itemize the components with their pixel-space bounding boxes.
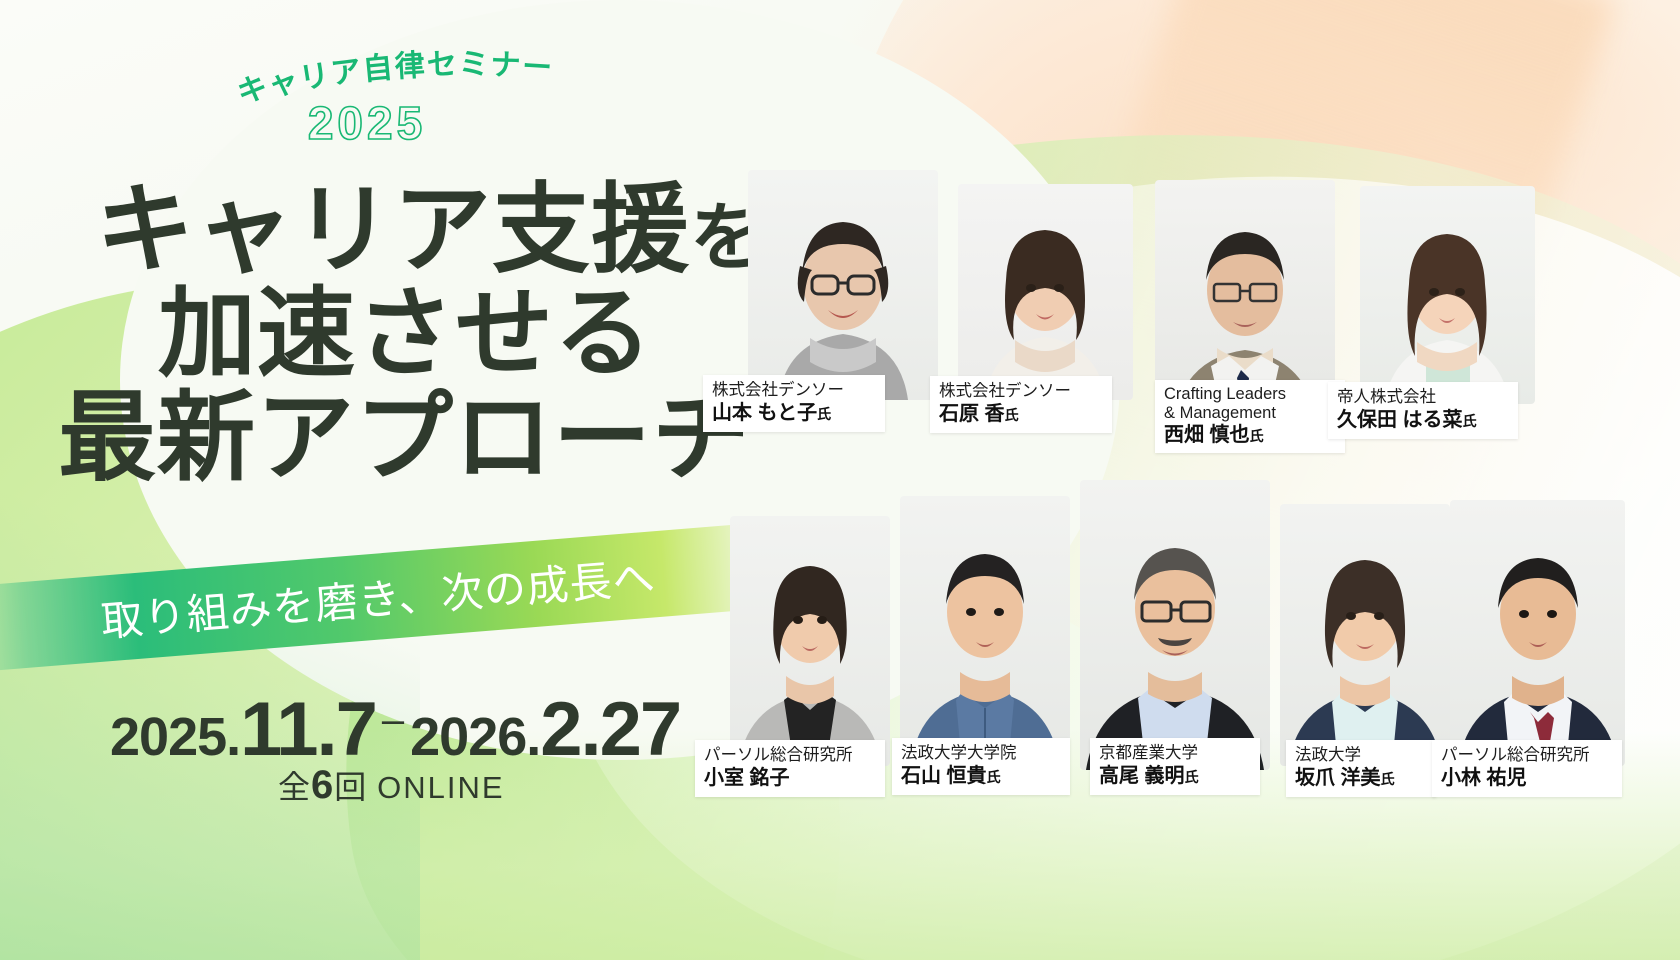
- speaker-name-text: 高尾 義明: [1099, 765, 1185, 787]
- speaker-name: 山本 もと子氏: [712, 401, 876, 425]
- speaker-honorific: 氏: [817, 406, 831, 422]
- end-year: 2026.: [410, 707, 540, 767]
- speaker-org: 京都産業大学: [1099, 743, 1251, 763]
- start-month-day: 11.7: [240, 687, 376, 772]
- speaker-org: パーソル総合研究所: [1441, 745, 1613, 765]
- headline-line-3: 最新アプローチ: [0, 386, 720, 490]
- speaker-honorific: 氏: [1250, 428, 1264, 444]
- speaker-photo: [748, 170, 938, 400]
- speaker-org: 法政大学大学院: [901, 743, 1061, 763]
- speaker-card: 帝人株式会社 久保田 はる菜氏: [1360, 186, 1535, 404]
- speaker-org: 株式会社デンソー: [939, 381, 1103, 401]
- headline-line-2: 加速させる: [0, 282, 720, 386]
- speaker-name-text: 坂爪 洋美: [1295, 767, 1381, 789]
- portrait-illustration: [730, 516, 890, 766]
- speaker-nameplate: 法政大学大学院 石山 恒貴氏: [892, 738, 1070, 795]
- speaker-card: 株式会社デンソー 山本 もと子氏: [748, 170, 938, 400]
- speaker-org: 株式会社デンソー: [712, 380, 876, 400]
- portrait-illustration: [748, 170, 938, 400]
- speaker-org: 帝人株式会社: [1337, 387, 1509, 407]
- speaker-gallery: 株式会社デンソー 山本 もと子氏: [700, 0, 1680, 960]
- portrait-illustration: [1450, 500, 1625, 766]
- speaker-name: 石原 香氏: [939, 402, 1103, 426]
- start-year: 2025.: [110, 707, 240, 767]
- speaker-photo: [1450, 500, 1625, 766]
- page-title: キャリア支援を 加速させる 最新アプローチ: [0, 178, 720, 490]
- speaker-honorific: 氏: [1005, 407, 1019, 423]
- speaker-org-line-2: & Management: [1164, 404, 1336, 423]
- speaker-honorific: 氏: [1185, 769, 1199, 785]
- speaker-org-line-1: Crafting Leaders: [1164, 385, 1336, 404]
- series-eyebrow: キャリア自律セミナー 2025: [215, 48, 575, 150]
- headline-line-1: キャリア支援を: [0, 178, 720, 282]
- seminar-banner: キャリア自律セミナー 2025 キャリア支援を 加速させる 最新アプローチ 取り…: [0, 0, 1680, 960]
- speaker-name-text: 山本 もと子: [712, 402, 817, 424]
- speaker-photo: [900, 496, 1070, 766]
- speaker-nameplate: 京都産業大学 高尾 義明氏: [1090, 738, 1260, 795]
- speaker-nameplate: 株式会社デンソー 石原 香氏: [930, 376, 1112, 433]
- series-year: 2025: [187, 96, 547, 150]
- sessions-count: 6: [311, 763, 334, 807]
- speaker-card: 株式会社デンソー 石原 香氏: [958, 184, 1133, 400]
- speaker-org: パーソル総合研究所: [704, 745, 876, 765]
- speaker-photo: [958, 184, 1133, 400]
- speaker-nameplate: 法政大学 坂爪 洋美氏: [1286, 740, 1436, 797]
- speaker-card: 法政大学 坂爪 洋美氏: [1280, 504, 1450, 766]
- speaker-name: 高尾 義明氏: [1099, 764, 1251, 788]
- speaker-name-text: 小室 銘子: [704, 767, 790, 789]
- portrait-illustration: [1280, 504, 1450, 766]
- speaker-nameplate: Crafting Leaders & Management 西畑 慎也氏: [1155, 380, 1345, 453]
- speaker-honorific: 氏: [1381, 771, 1395, 787]
- format-label: ONLINE: [377, 770, 504, 805]
- speaker-name: 石山 恒貴氏: [901, 764, 1061, 788]
- speaker-honorific: 氏: [987, 769, 1001, 785]
- speaker-name-text: 小林 祐児: [1441, 767, 1527, 789]
- sessions-suffix: 回: [334, 769, 367, 805]
- subtitle-text: 取り組みを磨き、次の成長へ: [98, 544, 657, 649]
- date-range-dash: –: [376, 698, 410, 742]
- speaker-nameplate: パーソル総合研究所 小林 祐児: [1432, 740, 1622, 797]
- subtitle-banner: 取り組みを磨き、次の成長へ: [0, 523, 762, 673]
- speaker-name-text: 石原 香: [939, 403, 1005, 425]
- speaker-org: 法政大学: [1295, 745, 1427, 765]
- speaker-photo: [1080, 480, 1270, 770]
- speaker-card: パーソル総合研究所 小室 銘子: [730, 516, 890, 766]
- speaker-photo: [1280, 504, 1450, 766]
- headline-line-1-main: キャリア支援: [96, 174, 690, 284]
- speaker-name-text: 西畑 慎也: [1164, 424, 1250, 446]
- speaker-card: パーソル総合研究所 小林 祐児: [1450, 500, 1625, 766]
- portrait-illustration: [1080, 480, 1270, 770]
- speaker-name: 西畑 慎也氏: [1164, 424, 1336, 447]
- portrait-illustration: [1360, 186, 1535, 404]
- speaker-name: 小室 銘子: [704, 766, 876, 790]
- schedule-dates: 2025.11.7–2026.2.27: [110, 686, 680, 773]
- speaker-honorific: 氏: [1463, 413, 1477, 429]
- session-format: 全6回 ONLINE: [278, 762, 505, 808]
- speaker-name: 久保田 はる菜氏: [1337, 408, 1509, 432]
- sessions-prefix: 全: [278, 769, 311, 805]
- speaker-name: 坂爪 洋美氏: [1295, 766, 1427, 790]
- speaker-card: 法政大学大学院 石山 恒貴氏: [900, 496, 1070, 766]
- speaker-nameplate: 帝人株式会社 久保田 はる菜氏: [1328, 382, 1518, 439]
- speaker-photo: [730, 516, 890, 766]
- portrait-illustration: [900, 496, 1070, 766]
- speaker-nameplate: パーソル総合研究所 小室 銘子: [695, 740, 885, 797]
- speaker-photo: [1360, 186, 1535, 404]
- speaker-name: 小林 祐児: [1441, 766, 1613, 790]
- speaker-nameplate: 株式会社デンソー 山本 もと子氏: [703, 375, 885, 432]
- text-column: キャリア自律セミナー 2025 キャリア支援を 加速させる 最新アプローチ 取り…: [0, 0, 760, 960]
- speaker-card: 京都産業大学 高尾 義明氏: [1080, 480, 1270, 770]
- portrait-illustration: [958, 184, 1133, 400]
- speaker-name-text: 久保田 はる菜: [1337, 409, 1463, 431]
- subtitle-banner-fill: 取り組みを磨き、次の成長へ: [0, 523, 762, 673]
- speaker-name-text: 石山 恒貴: [901, 765, 987, 787]
- speaker-card: Crafting Leaders & Management 西畑 慎也氏: [1155, 180, 1335, 420]
- end-month-day: 2.27: [540, 687, 680, 772]
